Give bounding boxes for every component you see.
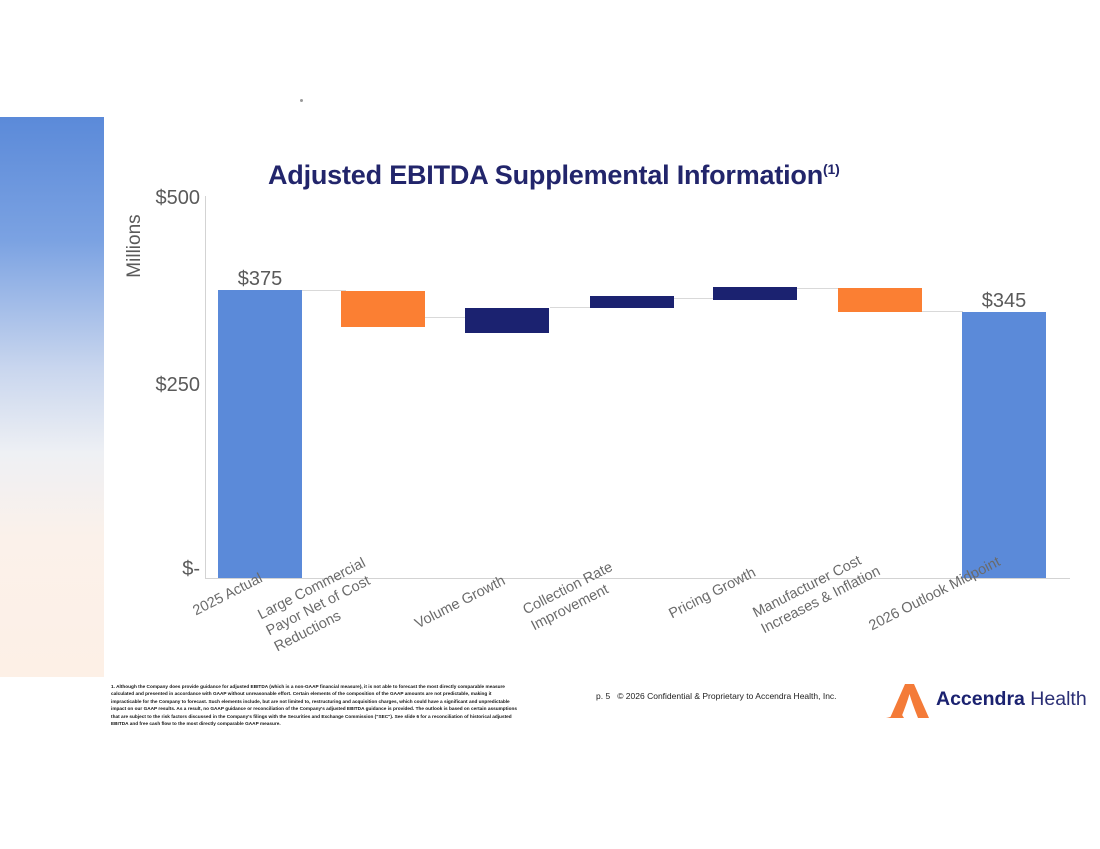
- connector-4: [672, 298, 715, 299]
- bar-2025-actual[interactable]: [218, 290, 302, 578]
- value-label-2025-actual: $375: [218, 268, 302, 291]
- logo-brand-light: Health: [1025, 688, 1087, 710]
- bar-pricing-growth[interactable]: [713, 287, 797, 300]
- connector-3: [550, 307, 593, 308]
- left-accent-gradient-strip: [0, 117, 104, 677]
- category-label-2026-outlook-midpoint: 2026 Outlook Midpoint: [866, 553, 1004, 635]
- footer: p. 5© 2026 Confidential & Proprietary to…: [596, 691, 837, 701]
- y-axis-line: [205, 196, 206, 578]
- bar-manufacturer-cost-increases[interactable]: [838, 288, 922, 312]
- footnote-line: 1. Although the Company does provide gui…: [111, 683, 601, 690]
- page-number: p. 5: [596, 691, 610, 701]
- footnote-line: impracticable for the Company to forecas…: [111, 698, 601, 705]
- y-tick-250: $250: [110, 374, 200, 397]
- footnote-line: calculated and presented in accordance w…: [111, 690, 601, 697]
- copyright-text: © 2026 Confidential & Proprietary to Acc…: [617, 691, 836, 701]
- category-label-volume-growth: Volume Growth: [412, 572, 509, 633]
- slide: Adjusted EBITDA Supplemental Information…: [0, 0, 1100, 849]
- bar-large-commercial-payor[interactable]: [341, 291, 425, 327]
- category-label-manufacturer-cost: Manufacturer Cost Increases & Inflation: [750, 546, 884, 638]
- logo-brand-bold: Accendra: [936, 688, 1025, 710]
- title-footnote-marker: (1): [823, 161, 840, 177]
- category-label-collection-rate-improvement: Collection Rate Improvement: [520, 558, 624, 635]
- category-label-pricing-growth: Pricing Growth: [666, 564, 759, 623]
- y-tick-0: $-: [110, 558, 200, 581]
- y-tick-500: $500: [110, 187, 200, 210]
- logo-wordmark: Accendra Health: [936, 688, 1087, 711]
- logo: Accendra Health: [884, 681, 1066, 721]
- page-title: Adjusted EBITDA Supplemental Information…: [268, 160, 840, 191]
- footnote-line: that are subject to the risk factors dis…: [111, 713, 601, 720]
- connector-6: [920, 311, 963, 312]
- stray-speck: [300, 99, 303, 102]
- footnote-block: 1. Although the Company does provide gui…: [111, 683, 601, 728]
- bar-volume-growth[interactable]: [465, 308, 549, 333]
- footnote-line: EBITDA and free cash flow to the most di…: [111, 720, 601, 727]
- connector-5: [797, 288, 840, 289]
- footnote-line: impact on our GAAP results. As a result,…: [111, 705, 601, 712]
- page-title-text: Adjusted EBITDA Supplemental Information: [268, 160, 823, 190]
- bar-2026-outlook-midpoint[interactable]: [962, 312, 1046, 578]
- bar-collection-rate-improvement[interactable]: [590, 296, 674, 308]
- accendra-mark-icon: [884, 683, 930, 719]
- value-label-2026-outlook-midpoint: $345: [962, 290, 1046, 313]
- y-axis-title: Millions: [124, 196, 224, 296]
- connector-1: [302, 290, 346, 291]
- connector-2: [425, 317, 465, 318]
